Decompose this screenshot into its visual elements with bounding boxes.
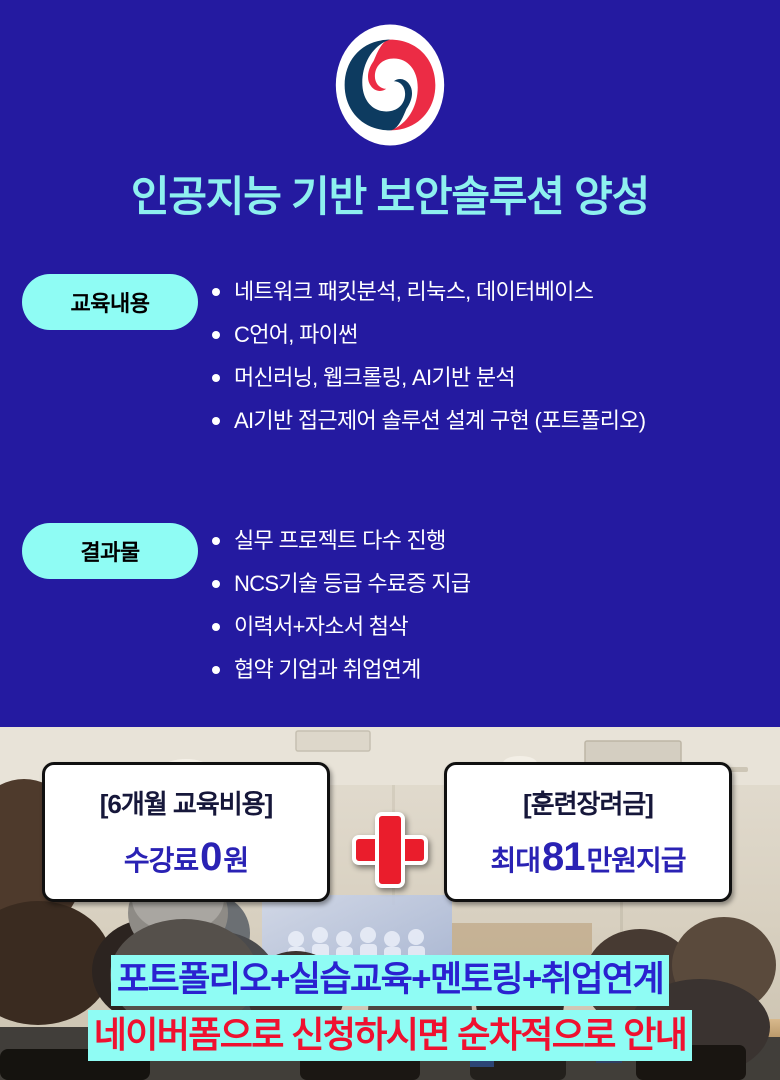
- card-training-allowance: [훈련장려금] 최대 81만원지급: [444, 762, 732, 902]
- card-allowance-value-amount: 81: [540, 835, 587, 880]
- bottom-banner: 포트폴리오+실습교육+멘토링+취업연계 네이버폼으로 신청하시면 순차적으로 안…: [0, 955, 780, 1061]
- card-tuition-value-suffix: 원: [223, 839, 248, 879]
- list-item: 협약 기업과 취업연계: [206, 648, 780, 691]
- emblem-container: [0, 22, 780, 153]
- card-allowance-value-suffix: 만원지급: [586, 839, 685, 879]
- page-title: 인공지능 기반 보안솔루션 양성: [0, 163, 780, 224]
- banner-line-features-text: 포트폴리오+실습교육+멘토링+취업연계: [111, 955, 669, 1006]
- section-label-pill-outcomes: 결과물: [22, 523, 198, 579]
- education-bullet-list: 네트워크 패킷분석, 리눅스, 데이터베이스 C언어, 파이썬 머신러닝, 웹크…: [206, 270, 780, 442]
- banner-line-apply-text: 네이버폼으로 신청하시면 순차적으로 안내: [88, 1010, 693, 1061]
- outcomes-bullet-list: 실무 프로젝트 다수 진행 NCS기술 등급 수료증 지급 이력서+자소서 첨삭…: [206, 519, 780, 691]
- list-item: 머신러닝, 웹크롤링, AI기반 분석: [206, 356, 780, 399]
- list-item: AI기반 접근제어 솔루션 설계 구현 (포트폴리오): [206, 399, 780, 442]
- card-tuition-heading: [6개월 교육비용]: [100, 784, 273, 821]
- card-allowance-heading: [훈련장려금]: [523, 784, 653, 821]
- list-item: 이력서+자소서 첨삭: [206, 605, 780, 648]
- korean-government-taegeuk-emblem: [327, 22, 453, 148]
- card-tuition-value: 수강료 0원: [124, 835, 248, 880]
- list-item: 실무 프로젝트 다수 진행: [206, 519, 780, 562]
- section-outcomes: 결과물 실무 프로젝트 다수 진행 NCS기술 등급 수료증 지급 이력서+자소…: [0, 519, 780, 691]
- card-tuition-value-amount: 0: [198, 835, 223, 880]
- section-education-content: 교육내용 네트워크 패킷분석, 리눅스, 데이터베이스 C언어, 파이썬 머신러…: [0, 270, 780, 442]
- banner-line-features: 포트폴리오+실습교육+멘토링+취업연계: [0, 955, 780, 1006]
- plus-icon-vertical-bar: [375, 812, 405, 888]
- plus-icon: [352, 812, 428, 888]
- list-item: NCS기술 등급 수료증 지급: [206, 562, 780, 605]
- blue-content-panel: 인공지능 기반 보안솔루션 양성 교육내용 네트워크 패킷분석, 리눅스, 데이…: [0, 0, 780, 727]
- poster-root: 인공지능 기반 보안솔루션 양성 교육내용 네트워크 패킷분석, 리눅스, 데이…: [0, 0, 780, 1080]
- card-tuition-value-prefix: 수강료: [124, 839, 198, 879]
- section-label-pill-education: 교육내용: [22, 274, 198, 330]
- banner-line-apply: 네이버폼으로 신청하시면 순차적으로 안내: [0, 1010, 780, 1061]
- card-allowance-value-prefix: 최대: [490, 839, 540, 879]
- list-item: C언어, 파이썬: [206, 313, 780, 356]
- list-item: 네트워크 패킷분석, 리눅스, 데이터베이스: [206, 270, 780, 313]
- card-allowance-value: 최대 81만원지급: [490, 835, 685, 880]
- card-tuition-cost: [6개월 교육비용] 수강료 0원: [42, 762, 330, 902]
